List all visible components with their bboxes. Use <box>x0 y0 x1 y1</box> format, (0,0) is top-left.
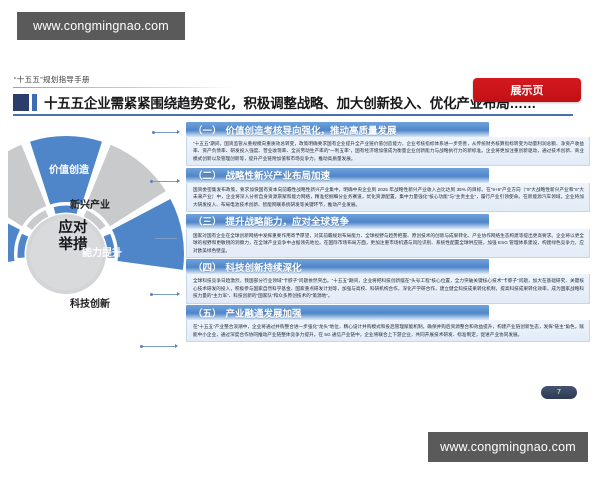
fan-diagram: 应对 举措 价值创造 新兴产业 能力提升 科技创新 产业融通 <box>8 118 186 388</box>
slide-canvas: “十五五”规划指导手册 十五五企业需紧紧围绕趋势变化，积极调整战略、加大创新投入… <box>0 56 600 416</box>
content-block-1-body: “十五五”期间，国资监管从重规模向重质效总转变，政策明确要求国有企业提升全产业链… <box>186 137 590 166</box>
content-block-3: （三） 提升战略能力，应对全球竞争 国家对国有企业在全球创新网络中发挥重要作用寄… <box>186 214 590 258</box>
content-block-2: （二） 战略性新兴产业布局加速 国资委密集发布政策，要求加快国有资本向前瞻性战略… <box>186 168 590 212</box>
header-divider <box>13 87 235 88</box>
ring-arc-3 <box>55 209 78 210</box>
content-block-1-heading: 价值创造考核导向强化，推动高质量发展 <box>226 123 397 137</box>
page-number-badge: 7 <box>541 386 577 399</box>
content-block-5-body: 在“十五五”产业整合浪潮中，企业将通过并购整合进一步强化“龙头”地位，精心设计并… <box>186 320 590 342</box>
content-block-1-header[interactable]: （一） 价值创造考核导向强化，推动高质量发展 <box>186 122 489 137</box>
ring-arc-5 <box>107 235 111 258</box>
content-block-1-number: （一） <box>193 123 222 137</box>
watermark-top: www.congmingnao.com <box>17 12 185 40</box>
content-block-3-body: 国家对国有企业在全球创新网络中发挥重要作用寄予厚望，对其前瞻规划布局能力、全球视… <box>186 229 590 258</box>
watermark-bottom: www.congmingnao.com <box>428 432 588 462</box>
watermark-bottom-text: www.congmingnao.com <box>440 440 576 454</box>
content-block-2-header[interactable]: （二） 战略性新兴产业布局加速 <box>186 168 489 183</box>
content-block-2-heading: 战略性新兴产业布局加速 <box>226 168 331 182</box>
content-block-4: （四） 科技创新持续深化 全球科技竞争日趋激烈，我国部分行业领域“卡脖子”问题依… <box>186 259 590 303</box>
page-title: 十五五企业需紧紧围绕趋势变化，积极调整战略、加大创新投入、优化产业布局…… <box>44 92 536 112</box>
content-block-3-header[interactable]: （三） 提升战略能力，应对全球竞争 <box>186 214 489 229</box>
content-block-2-body: 国资委密集发布政策，要求加快国有资本向前瞻性战略性新兴产业集中，明确中央企业到 … <box>186 183 590 212</box>
content-block-5-header[interactable]: （五） 产业融通发展加强 <box>186 305 489 320</box>
ring-arc-1 <box>21 235 25 258</box>
page-title-row: 十五五企业需紧紧围绕趋势变化，积极调整战略、加大创新投入、优化产业布局…… <box>13 90 536 114</box>
fan-center-label-line1: 应对 <box>39 220 107 237</box>
content-block-4-body: 全球科技竞争日趋激烈，我国部分行业领域“卡脖子”问题依然突出。“十五五”期间，企… <box>186 274 590 303</box>
title-underline <box>13 114 573 116</box>
watermark-top-text: www.congmingnao.com <box>33 19 169 33</box>
content-block-4-header[interactable]: （四） 科技创新持续深化 <box>186 259 489 274</box>
header-kicker: “十五五”规划指导手册 <box>14 74 90 85</box>
content-block-5-heading: 产业融通发展加强 <box>226 306 302 320</box>
content-block-3-heading: 提升战略能力，应对全球竞争 <box>226 214 350 228</box>
content-block-5: （五） 产业融通发展加强 在“十五五”产业整合浪潮中，企业将通过并购整合进一步强… <box>186 305 590 342</box>
fan-center-label: 应对 举措 <box>39 220 107 253</box>
title-marker-square-dark <box>13 94 29 111</box>
content-block-3-number: （三） <box>193 214 222 228</box>
content-block-4-number: （四） <box>193 260 222 274</box>
demo-page-badge: 展示页 <box>473 78 581 102</box>
content-block-1: （一） 价值创造考核导向强化，推动高质量发展 “十五五”期间，国资监管从重规模向… <box>186 122 590 166</box>
fan-center-label-line2: 举措 <box>39 237 107 254</box>
content-block-5-number: （五） <box>193 306 222 320</box>
content-block-2-number: （二） <box>193 168 222 182</box>
content-blocks: （一） 价值创造考核导向强化，推动高质量发展 “十五五”期间，国资监管从重规模向… <box>186 122 590 344</box>
content-block-4-heading: 科技创新持续深化 <box>226 260 302 274</box>
title-marker-square-blue <box>32 94 37 111</box>
